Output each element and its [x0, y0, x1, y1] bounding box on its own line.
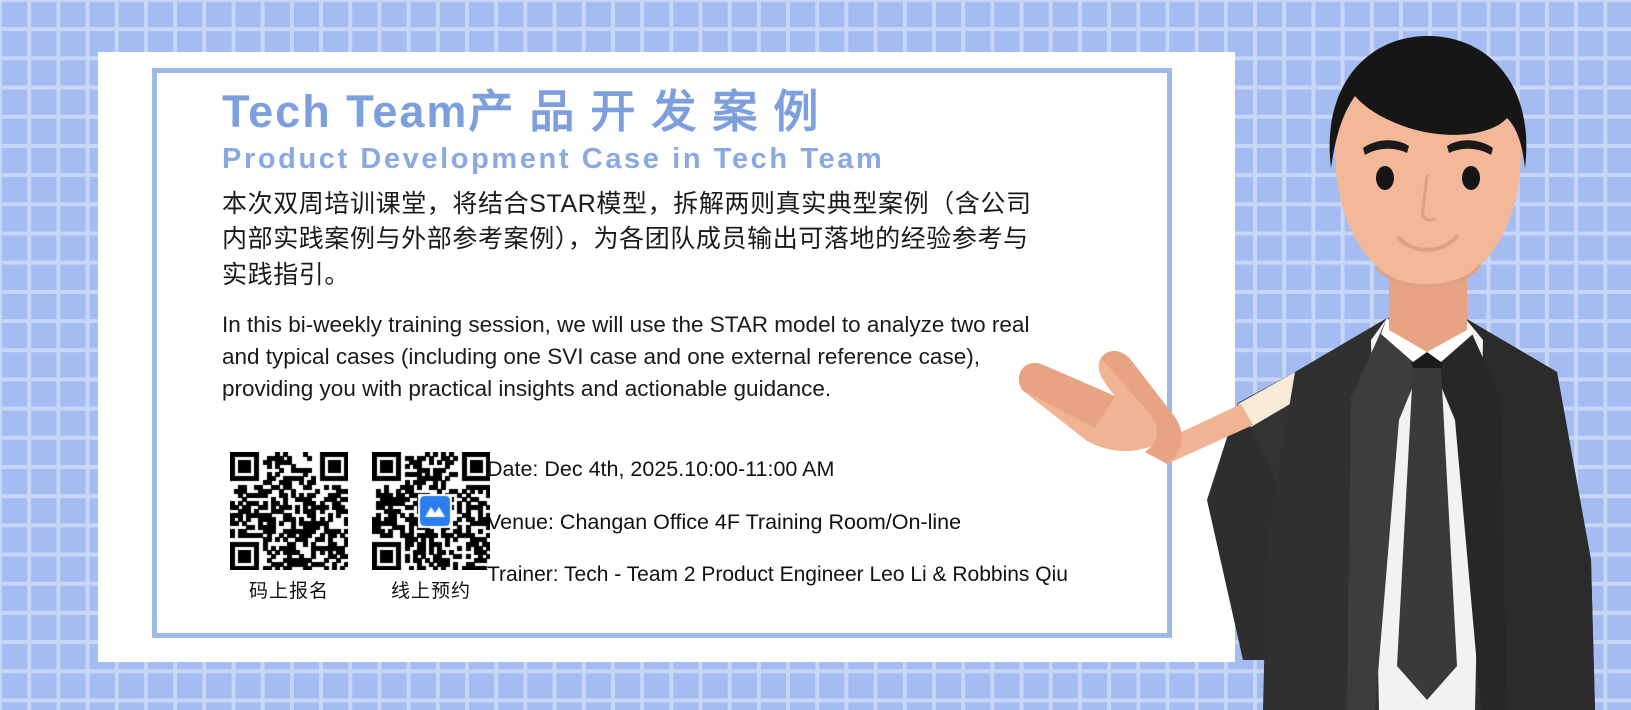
qr-block-signup[interactable]: 码上报名 [230, 452, 348, 603]
poster-title-cn-cjk: 产品开发案例 [468, 86, 834, 137]
qr-label-signup: 码上报名 [230, 576, 348, 603]
poster-title-en: Product Development Case in Tech Team [222, 142, 1057, 177]
poster-paragraph-cn: 本次双周培训课堂，将结合STAR模型，拆解两则真实典型案例（含公司内部实践案例与… [222, 187, 1032, 294]
event-trainer: Trainer: Tech - Team 2 Product Engineer … [487, 562, 1047, 588]
event-date: Date: Dec 4th, 2025.10:00-11:00 AM [487, 456, 1047, 483]
event-details: Date: Dec 4th, 2025.10:00-11:00 AM Venue… [487, 456, 1047, 588]
qr-code-image-signup[interactable] [230, 452, 348, 570]
qr-code-image-online-booking[interactable] [372, 452, 490, 570]
event-venue: Venue: Changan Office 4F Training Room/O… [487, 509, 1047, 536]
poster-title-cn: Tech Team产品开发案例 [222, 86, 1057, 138]
poster-content: Tech Team产品开发案例 Product Development Case… [222, 86, 1057, 405]
qr-block-online-booking[interactable]: 线上预约 [372, 452, 490, 603]
qr-label-online-booking: 线上预约 [372, 576, 490, 603]
poster-paragraph-en: In this bi-weekly training session, we w… [222, 309, 1037, 405]
poster-title-cn-latin: Tech Team [222, 86, 468, 137]
qr-code-row: 码上报名 线上预约 [230, 452, 514, 603]
